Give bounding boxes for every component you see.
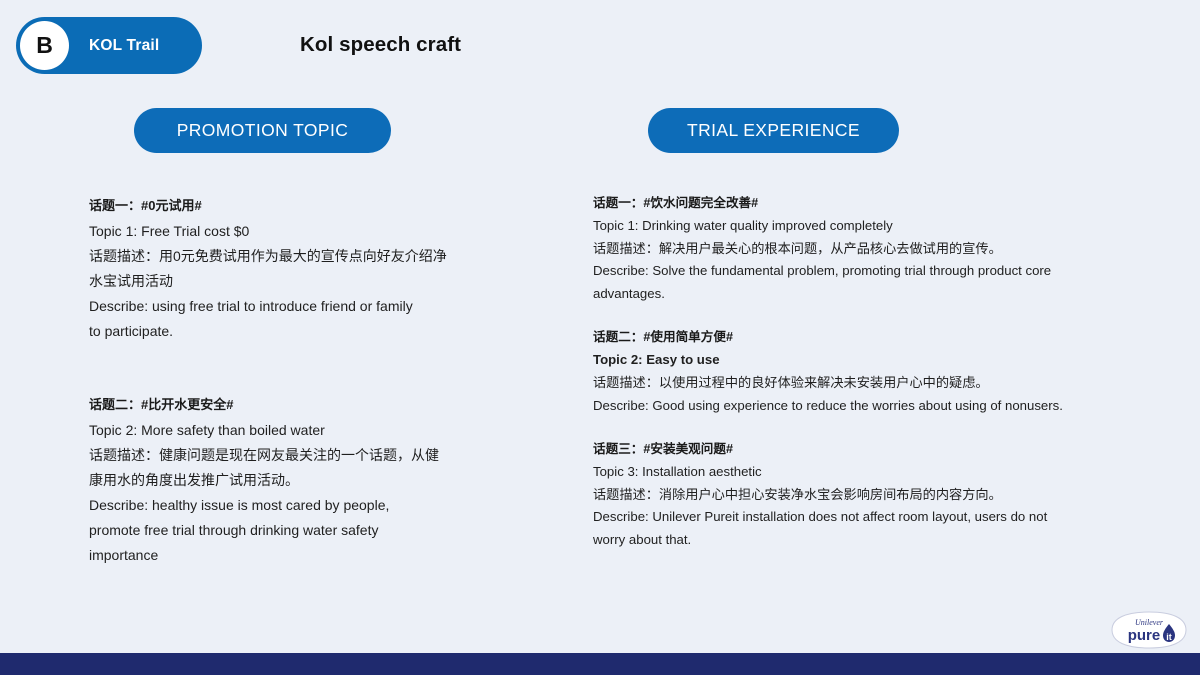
promotion-topic-column: 话题一：#0元试用# Topic 1: Free Trial cost $0 话… — [89, 193, 489, 568]
logo-unilever-text: Unilever — [1135, 618, 1164, 627]
topic-title-en: Topic 3: Installation aesthetic — [593, 461, 1093, 484]
unilever-pureit-logo: Unilever pure it — [1106, 609, 1192, 651]
topic-desc-en: Describe: Solve the fundamental problem,… — [593, 260, 1093, 283]
topic-desc-cn: 话题描述：用0元免费试用作为最大的宣传点向好友介绍净 — [89, 244, 489, 269]
topic-block: 话题三：#安装美观问题# Topic 3: Installation aesth… — [593, 438, 1093, 551]
section-pill-promotion-topic-label: PROMOTION TOPIC — [177, 120, 349, 141]
badge-letter-circle: B — [20, 21, 69, 70]
topic-desc-cn: 话题描述：消除用户心中担心安装净水宝会影响房间布局的内容方向。 — [593, 484, 1093, 507]
topic-desc-cn: 话题描述：健康问题是现在网友最关注的一个话题，从健 — [89, 443, 489, 468]
section-pill-trial-experience-label: TRIAL EXPERIENCE — [687, 120, 860, 141]
topic-desc-cn: 康用水的角度出发推广试用活动。 — [89, 468, 489, 493]
topic-block: 话题一：#饮水问题完全改善# Topic 1: Drinking water q… — [593, 192, 1093, 305]
topic-desc-en: promote free trial through drinking wate… — [89, 518, 489, 543]
topic-desc-en: Describe: healthy issue is most cared by… — [89, 493, 489, 518]
topic-desc-en: Describe: Unilever Pureit installation d… — [593, 506, 1093, 529]
topic-desc-cn: 话题描述：解决用户最关心的根本问题，从产品核心去做试用的宣传。 — [593, 238, 1093, 261]
topic-desc-en: advantages. — [593, 283, 1093, 306]
topic-heading: 话题一：#0元试用# — [89, 193, 489, 219]
slide-canvas: B KOL Trail Kol speech craft PROMOTION T… — [0, 0, 1200, 675]
topic-title-en: Topic 1: Free Trial cost $0 — [89, 219, 489, 244]
topic-heading: 话题二：#使用简单方便# — [593, 326, 1093, 349]
topic-desc-en: worry about that. — [593, 529, 1093, 552]
topic-block: 话题一：#0元试用# Topic 1: Free Trial cost $0 话… — [89, 193, 489, 344]
badge-label: KOL Trail — [89, 37, 159, 55]
topic-block: 话题二：#比开水更安全# Topic 2: More safety than b… — [89, 392, 489, 568]
topic-desc-en: importance — [89, 543, 489, 568]
topic-desc-en: to participate. — [89, 319, 489, 344]
topic-title-en: Topic 2: More safety than boiled water — [89, 418, 489, 443]
page-title: Kol speech craft — [300, 33, 461, 57]
kol-trail-badge: B KOL Trail — [16, 17, 202, 74]
logo-pure-text: pure — [1128, 627, 1161, 644]
topic-heading: 话题一：#饮水问题完全改善# — [593, 192, 1093, 215]
topic-block: 话题二：#使用简单方便# Topic 2: Easy to use 话题描述：以… — [593, 326, 1093, 417]
topic-desc-en: Describe: using free trial to introduce … — [89, 294, 489, 319]
section-pill-promotion-topic: PROMOTION TOPIC — [134, 108, 391, 153]
section-pill-trial-experience: TRIAL EXPERIENCE — [648, 108, 899, 153]
topic-heading: 话题二：#比开水更安全# — [89, 392, 489, 418]
footer-bar — [0, 653, 1200, 675]
topic-heading: 话题三：#安装美观问题# — [593, 438, 1093, 461]
logo-it-text: it — [1166, 632, 1172, 642]
topic-title-en: Topic 1: Drinking water quality improved… — [593, 215, 1093, 238]
topic-desc-cn: 话题描述：以使用过程中的良好体验来解决未安装用户心中的疑虑。 — [593, 372, 1093, 395]
trial-experience-column: 话题一：#饮水问题完全改善# Topic 1: Drinking water q… — [593, 192, 1093, 552]
topic-desc-en: Describe: Good using experience to reduc… — [593, 395, 1093, 418]
badge-letter: B — [36, 34, 53, 57]
topic-title-en: Topic 2: Easy to use — [593, 349, 1093, 372]
topic-desc-cn: 水宝试用活动 — [89, 269, 489, 294]
